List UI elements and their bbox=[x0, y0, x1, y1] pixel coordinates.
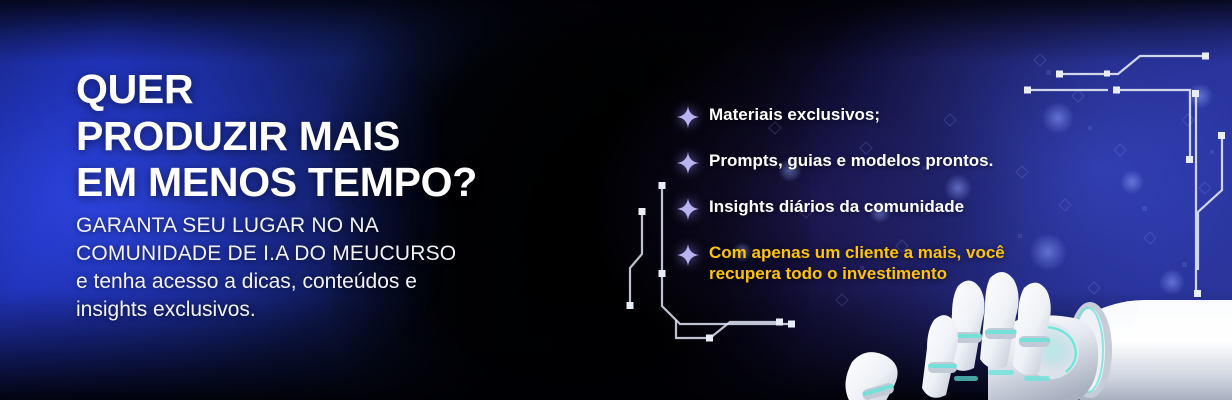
robot-hand-image bbox=[838, 258, 1232, 400]
list-item: Insights diários da comunidade bbox=[676, 196, 1116, 221]
sparkle-star-icon bbox=[676, 197, 700, 221]
sparkle-star-icon bbox=[676, 151, 700, 175]
list-item: Materiais exclusivos; bbox=[676, 104, 1116, 129]
sparkle-star-icon bbox=[676, 243, 700, 267]
subheadline-line-1: GARANTA SEU LUGAR NO NA bbox=[76, 212, 456, 240]
headline-line-3: EM MENOS TEMPO? bbox=[76, 159, 477, 206]
list-item: Prompts, guias e modelos prontos. bbox=[676, 150, 1116, 175]
headline: QUER PRODUZIR MAIS EM MENOS TEMPO? bbox=[76, 66, 477, 206]
list-item-label: Materiais exclusivos; bbox=[709, 104, 880, 125]
subheadline-line-4: insights exclusivos. bbox=[76, 296, 456, 324]
list-item-label: Prompts, guias e modelos prontos. bbox=[709, 150, 993, 171]
subheadline-line-2: COMUNIDADE DE I.A DO MEUCURSO bbox=[76, 240, 456, 268]
headline-line-1: QUER bbox=[76, 66, 477, 113]
sparkle-star-icon bbox=[676, 105, 700, 129]
promo-banner: QUER PRODUZIR MAIS EM MENOS TEMPO? GARAN… bbox=[0, 0, 1232, 400]
subheadline: GARANTA SEU LUGAR NO NA COMUNIDADE DE I.… bbox=[76, 212, 456, 324]
list-item-label: Insights diários da comunidade bbox=[709, 196, 964, 217]
subheadline-line-3: e tenha acesso a dicas, conteúdos e bbox=[76, 268, 456, 296]
headline-line-2: PRODUZIR MAIS bbox=[76, 113, 477, 160]
